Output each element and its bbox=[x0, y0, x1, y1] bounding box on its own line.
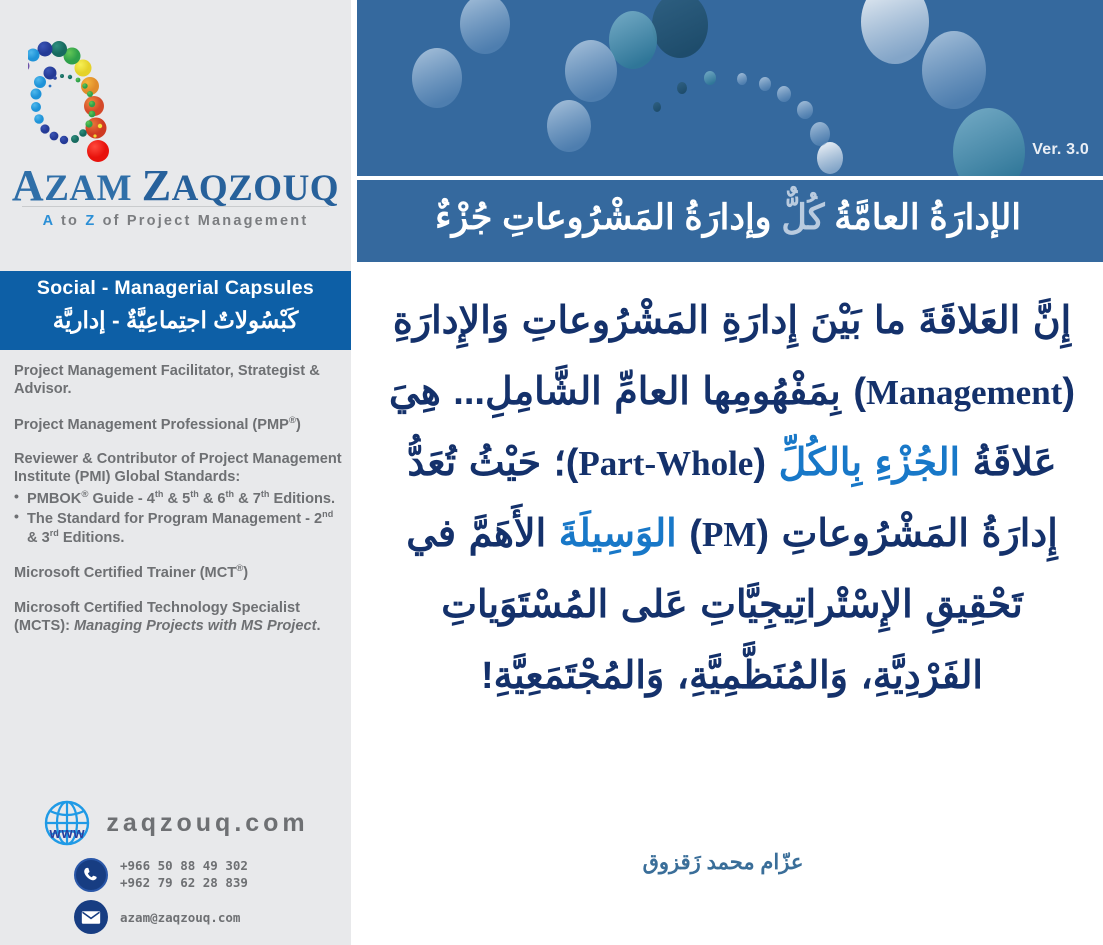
paragraph-s5: ) bbox=[677, 513, 702, 555]
website-row[interactable]: www zaqzouq.com bbox=[0, 795, 351, 851]
wordmark-aqzouq: AQZOUQ bbox=[172, 168, 339, 209]
credential-facilitator: Project Management Facilitator, Strategi… bbox=[14, 362, 344, 399]
capsules-banner-english: Social - Managerial Capsules bbox=[0, 277, 351, 300]
content-column: Ver. 3.0 الإدارَةُ العامَّةُ كُلٌّ وإدار… bbox=[357, 0, 1103, 945]
sidebar: AZAM ZAQZOUQ A to Z of Project Managemen… bbox=[0, 0, 351, 945]
bullet-program-standard: The Standard for Program Management - 2n… bbox=[14, 509, 344, 547]
phone-numbers: +966 50 88 49 302 +962 79 62 28 839 bbox=[120, 858, 248, 892]
logo-divider bbox=[22, 206, 329, 207]
paragraph-highlight-part-whole-ar: الجُزْءِ بِالكُلِّ bbox=[779, 442, 961, 484]
bubbles-decoration-icon bbox=[357, 0, 1103, 176]
tagline-z: Z bbox=[85, 213, 96, 229]
paragraph-en-management: Management bbox=[866, 373, 1062, 412]
paragraph-s3: ( bbox=[753, 442, 778, 484]
brand-wordmark: AZAM ZAQZOUQ bbox=[0, 160, 351, 211]
paragraph-highlight-waseela: الوَسِيلَةَ bbox=[559, 513, 677, 555]
phone-number-2: +962 79 62 28 839 bbox=[120, 875, 248, 892]
email-row[interactable]: azam@zaqzouq.com bbox=[74, 900, 240, 934]
capsules-banner: Social - Managerial Capsules كَبْسُولاتٌ… bbox=[0, 271, 351, 350]
envelope-icon bbox=[74, 900, 108, 934]
poster-root: AZAM ZAQZOUQ A to Z of Project Managemen… bbox=[0, 0, 1103, 945]
email-address[interactable]: azam@zaqzouq.com bbox=[120, 910, 240, 925]
title-bar: الإدارَةُ العامَّةُ كُلٌّ وإدارَةُ المَش… bbox=[357, 180, 1103, 262]
globe-www-label: www bbox=[42, 826, 92, 842]
website-url[interactable]: zaqzouq.com bbox=[106, 809, 308, 838]
version-badge: Ver. 3.0 bbox=[1032, 141, 1089, 159]
standards-bullets: PMBOK® Guide - 4th & 5th & 6th & 7th Edi… bbox=[14, 489, 344, 548]
wordmark-z: Z bbox=[142, 161, 172, 210]
title-part-highlight: كُلٌّ bbox=[781, 198, 824, 237]
main-paragraph: إِنَّ العَلاقَةَ ما بَيْنَ إِدارَةِ المَ… bbox=[377, 286, 1087, 712]
spiral-dots-logo-icon bbox=[28, 28, 178, 168]
capsules-banner-arabic: كَبْسُولاتٌ اجتِماعِيَّةٌ - إداريَّة bbox=[0, 307, 351, 334]
phone-icon bbox=[74, 858, 108, 892]
paragraph-en-pm: PM bbox=[702, 515, 756, 554]
phone-number-1: +966 50 88 49 302 bbox=[120, 858, 248, 875]
hero-banner: Ver. 3.0 bbox=[357, 0, 1103, 176]
credentials-list: Project Management Facilitator, Strategi… bbox=[14, 362, 344, 651]
author-signature: عزّام محمد زَقزوق bbox=[357, 850, 1089, 875]
title-part-1: الإدارَةُ العامَّةُ bbox=[824, 198, 1021, 237]
wordmark-zam: ZAM bbox=[44, 168, 132, 209]
page-title: الإدارَةُ العامَّةُ كُلٌّ وإدارَةُ المَش… bbox=[357, 180, 1099, 260]
globe-icon: www bbox=[42, 798, 92, 848]
phone-row[interactable]: +966 50 88 49 302 +962 79 62 28 839 bbox=[74, 858, 248, 892]
credential-mcts: Microsoft Certified Technology Specialis… bbox=[14, 599, 344, 636]
wordmark-a: A bbox=[12, 161, 44, 210]
credential-reviewer: Reviewer & Contributor of Project Manage… bbox=[14, 450, 344, 547]
brand-tagline: A to Z of Project Management bbox=[0, 213, 351, 229]
tagline-rest: of Project Management bbox=[96, 213, 308, 229]
credential-mct: Microsoft Certified Trainer (MCT®) bbox=[14, 563, 344, 582]
credential-pmp: Project Management Professional (PMP®) bbox=[14, 415, 344, 434]
title-part-2: وإدارَةُ المَشْرُوعاتِ جُزْءٌ bbox=[435, 198, 781, 237]
tagline-a: A bbox=[43, 213, 55, 229]
bullet-pmbok: PMBOK® Guide - 4th & 5th & 6th & 7th Edi… bbox=[14, 489, 344, 508]
paragraph-en-part-whole: Part-Whole bbox=[578, 444, 753, 483]
tagline-to: to bbox=[55, 213, 86, 229]
brand-logo-block: AZAM ZAQZOUQ A to Z of Project Managemen… bbox=[0, 0, 351, 262]
